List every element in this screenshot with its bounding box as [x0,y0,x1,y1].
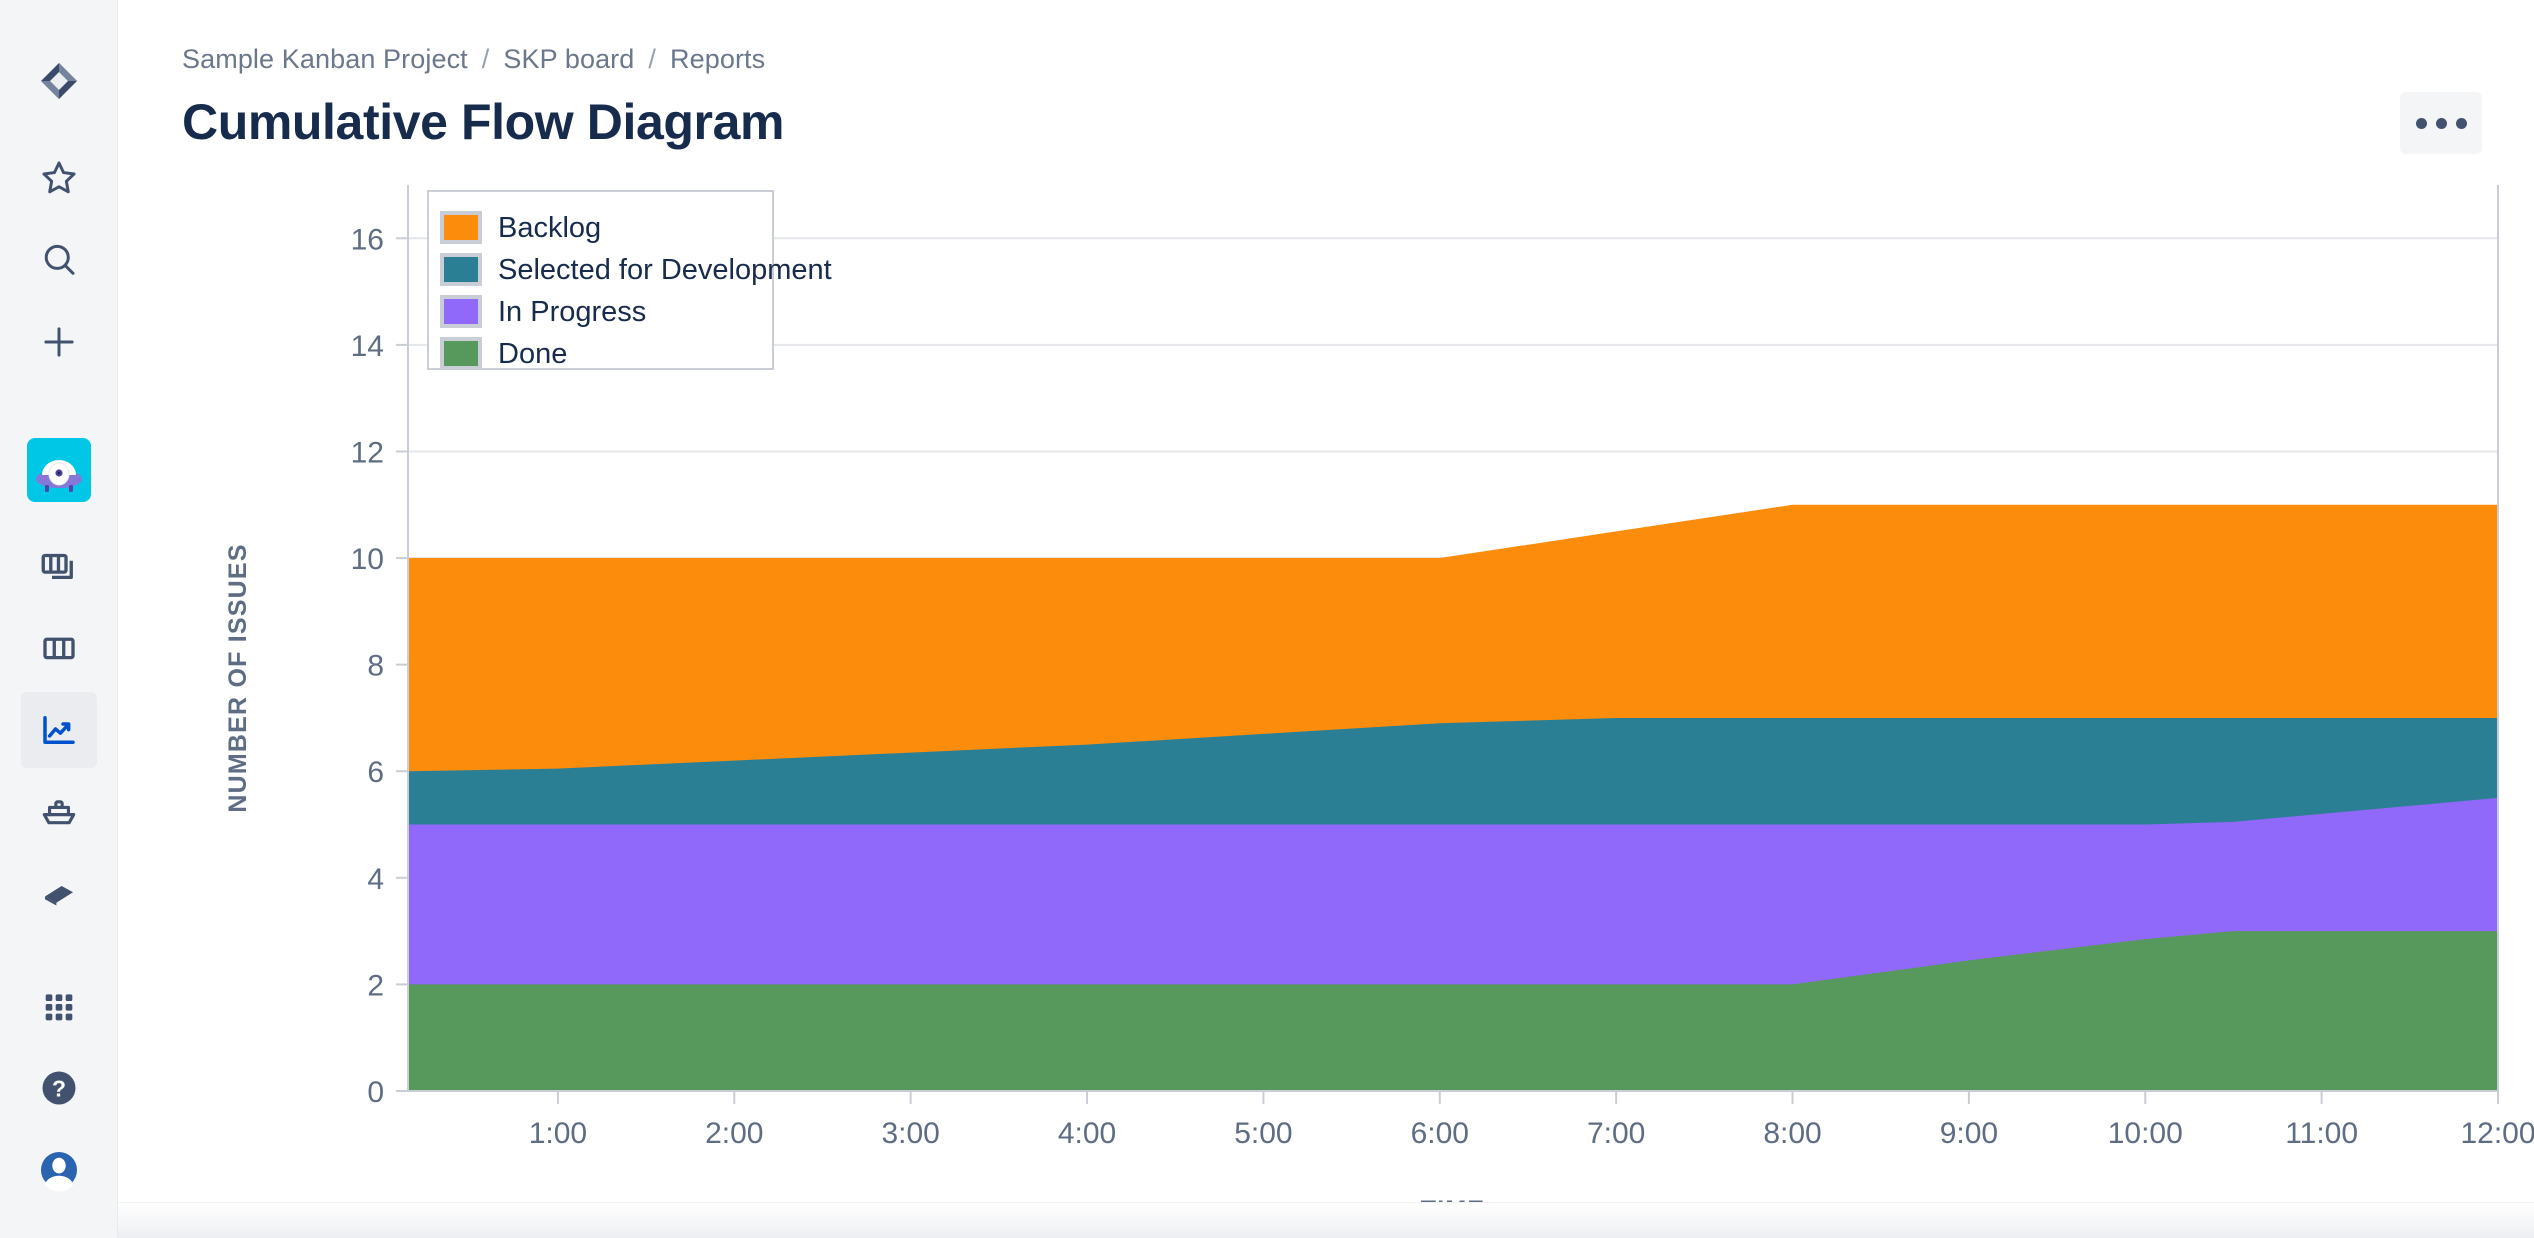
legend-item[interactable]: Selected for Development [442,254,832,286]
more-actions-button[interactable] [2400,92,2482,154]
legend-label: Selected for Development [498,254,832,286]
board-icon[interactable] [21,610,97,686]
profile-avatar[interactable] [21,1132,97,1208]
star-icon[interactable] [21,140,97,216]
search-icon[interactable] [21,222,97,298]
legend-swatch [442,339,480,368]
y-axis-title: NUMBER OF ISSUES [224,543,252,812]
y-tick-label: 10 [351,543,384,576]
x-tick-label: 1:00 [529,1117,587,1150]
breadcrumb-item-project[interactable]: Sample Kanban Project [182,44,468,75]
svg-text:?: ? [52,1075,66,1101]
chart-legend: BacklogSelected for DevelopmentIn Progre… [428,191,832,370]
project-avatar[interactable] [21,432,97,508]
x-tick-label: 9:00 [1940,1117,1998,1150]
y-tick-label: 16 [351,223,384,256]
breadcrumb-item-board[interactable]: SKP board [503,44,634,75]
y-tick-label: 2 [367,969,384,1002]
issues-icon[interactable] [21,856,97,932]
main-content: Sample Kanban Project / SKP board / Repo… [118,0,2534,1238]
apps-grid-icon[interactable] [21,968,97,1044]
x-tick-label: 6:00 [1411,1117,1469,1150]
breadcrumb-item-reports[interactable]: Reports [670,44,765,75]
y-tick-label: 12 [351,436,384,469]
x-tick-label: 4:00 [1058,1117,1116,1150]
x-tick-label: 11:00 [2285,1117,2358,1150]
plus-icon[interactable] [21,304,97,380]
x-tick-label: 7:00 [1587,1117,1645,1150]
x-tick-label: 5:00 [1234,1117,1292,1150]
project-avatar-image [27,438,91,502]
x-tick-label: 12:00 [2460,1117,2534,1150]
cfd-chart-svg[interactable]: 02468101214161:002:003:004:005:006:007:0… [118,173,2534,1223]
help-icon[interactable]: ? [21,1050,97,1126]
app-root: ? Sample Kanban Project / SKP board / Re… [0,0,2534,1238]
reports-icon[interactable] [21,692,97,768]
y-tick-label: 8 [367,650,384,683]
x-tick-label: 8:00 [1763,1117,1821,1150]
page-title: Cumulative Flow Diagram [182,93,2534,151]
legend-item[interactable]: Done [442,338,567,370]
bottom-scroll-strip[interactable] [118,1202,2534,1238]
legend-label: Done [498,338,567,370]
legend-label: In Progress [498,296,646,328]
legend-swatch [442,297,480,326]
breadcrumb-separator: / [482,44,490,75]
dot-icon [2436,118,2447,129]
dot-icon [2456,118,2467,129]
legend-item[interactable]: Backlog [442,212,601,244]
dot-icon [2416,118,2427,129]
legend-swatch [442,213,480,242]
x-tick-label: 2:00 [705,1117,763,1150]
legend-swatch [442,255,480,284]
sidebar-bottom-group: ? [21,968,97,1238]
y-tick-label: 14 [351,330,384,363]
releases-icon[interactable] [21,774,97,850]
jira-logo-icon[interactable] [21,44,97,120]
y-tick-label: 4 [367,863,384,896]
backlog-icon[interactable] [21,528,97,604]
y-tick-label: 6 [367,756,384,789]
y-tick-label: 0 [367,1076,384,1109]
x-tick-label: 3:00 [881,1117,939,1150]
cumulative-flow-chart: 02468101214161:002:003:004:005:006:007:0… [118,173,2534,1223]
legend-label: Backlog [498,212,601,244]
breadcrumb: Sample Kanban Project / SKP board / Repo… [182,44,2534,75]
breadcrumb-separator: / [648,44,656,75]
legend-item[interactable]: In Progress [442,296,646,328]
page-header: Sample Kanban Project / SKP board / Repo… [118,0,2534,151]
x-tick-label: 10:00 [2108,1117,2183,1150]
global-sidebar: ? [0,0,118,1238]
